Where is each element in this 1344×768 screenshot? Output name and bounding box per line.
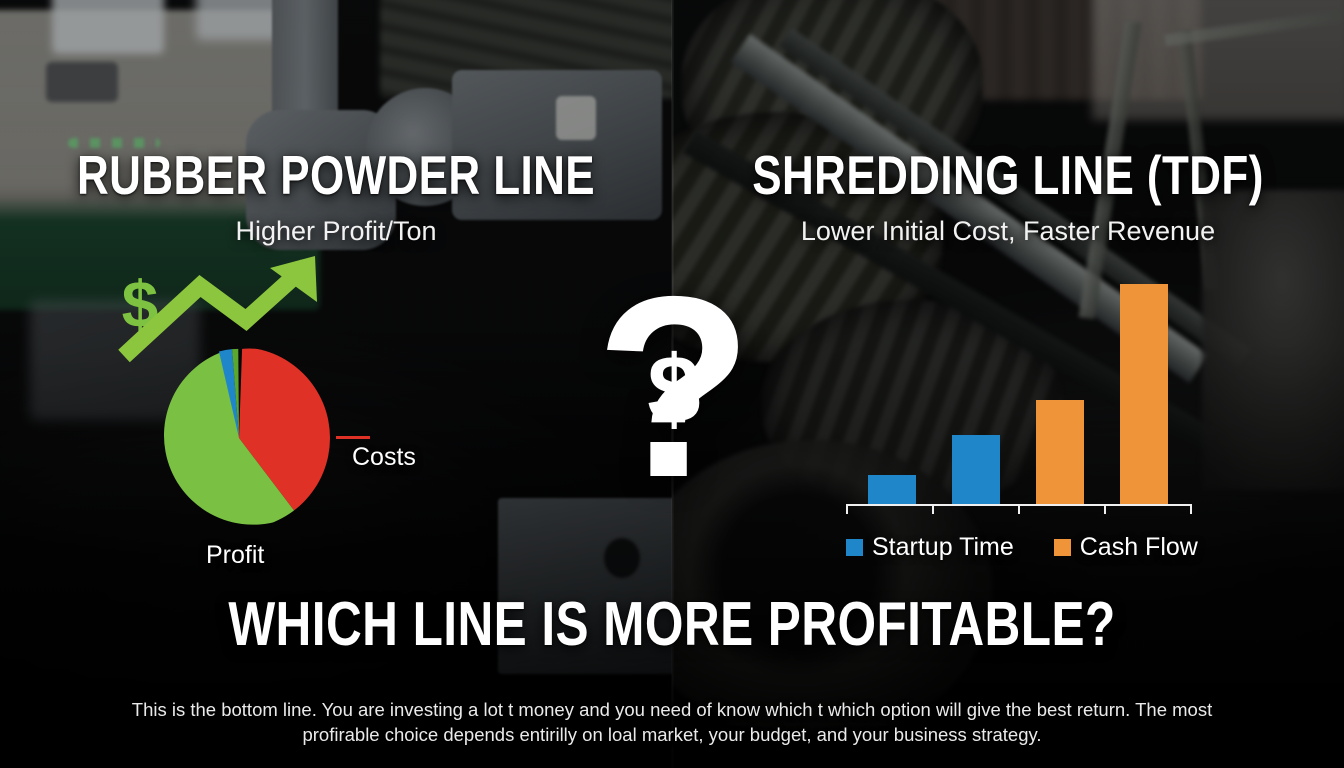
legend-label-startup-time: Startup Time bbox=[872, 533, 1014, 562]
right-panel-subtitle: Lower Initial Cost, Faster Revenue bbox=[672, 218, 1344, 245]
factory-window-shape bbox=[52, 0, 164, 54]
infographic-canvas: RUBBER POWDER LINE Higher Profit/Ton SHR… bbox=[0, 0, 1344, 768]
question-mark-group: ? $ bbox=[584, 296, 764, 558]
legend-label-cash-flow: Cash Flow bbox=[1080, 533, 1198, 562]
bar-startup-1 bbox=[868, 475, 916, 504]
profit-cost-pie-chart bbox=[148, 347, 330, 529]
axis-tick bbox=[1018, 504, 1020, 514]
bar-startup-2 bbox=[952, 435, 1000, 504]
legend-item-startup-time: Startup Time bbox=[846, 533, 1014, 562]
right-panel-title: SHREDDING LINE (TDF) bbox=[739, 148, 1277, 203]
pie-slices bbox=[148, 347, 330, 529]
pie-label-costs: Costs bbox=[352, 443, 416, 472]
pie-label-profit: Profit bbox=[206, 541, 264, 570]
bottom-caption-text: This is the bottom line. You are investi… bbox=[92, 698, 1252, 748]
axis-tick bbox=[846, 504, 848, 514]
legend-swatch-orange bbox=[1054, 539, 1071, 556]
bar-cashflow-2 bbox=[1120, 284, 1168, 504]
axis-tick bbox=[1190, 504, 1192, 514]
left-panel-title: RUBBER POWDER LINE bbox=[67, 148, 605, 203]
left-panel-subtitle: Higher Profit/Ton bbox=[0, 218, 672, 245]
startup-cashflow-bar-chart bbox=[846, 296, 1198, 532]
main-question-headline: WHICH LINE IS MORE PROFITABLE? bbox=[134, 594, 1209, 656]
dollar-sign-icon: $ bbox=[584, 342, 764, 438]
axis-tick bbox=[1104, 504, 1106, 514]
legend-item-cash-flow: Cash Flow bbox=[1054, 533, 1198, 562]
axis-tick bbox=[932, 504, 934, 514]
bar-chart-legend: Startup Time Cash Flow bbox=[846, 532, 1198, 562]
control-panel-screen-shape bbox=[46, 62, 118, 102]
bar-cashflow-1 bbox=[1036, 400, 1084, 504]
legend-swatch-blue bbox=[846, 539, 863, 556]
machine-label-shape bbox=[556, 96, 596, 140]
costs-leader-line bbox=[336, 436, 370, 439]
